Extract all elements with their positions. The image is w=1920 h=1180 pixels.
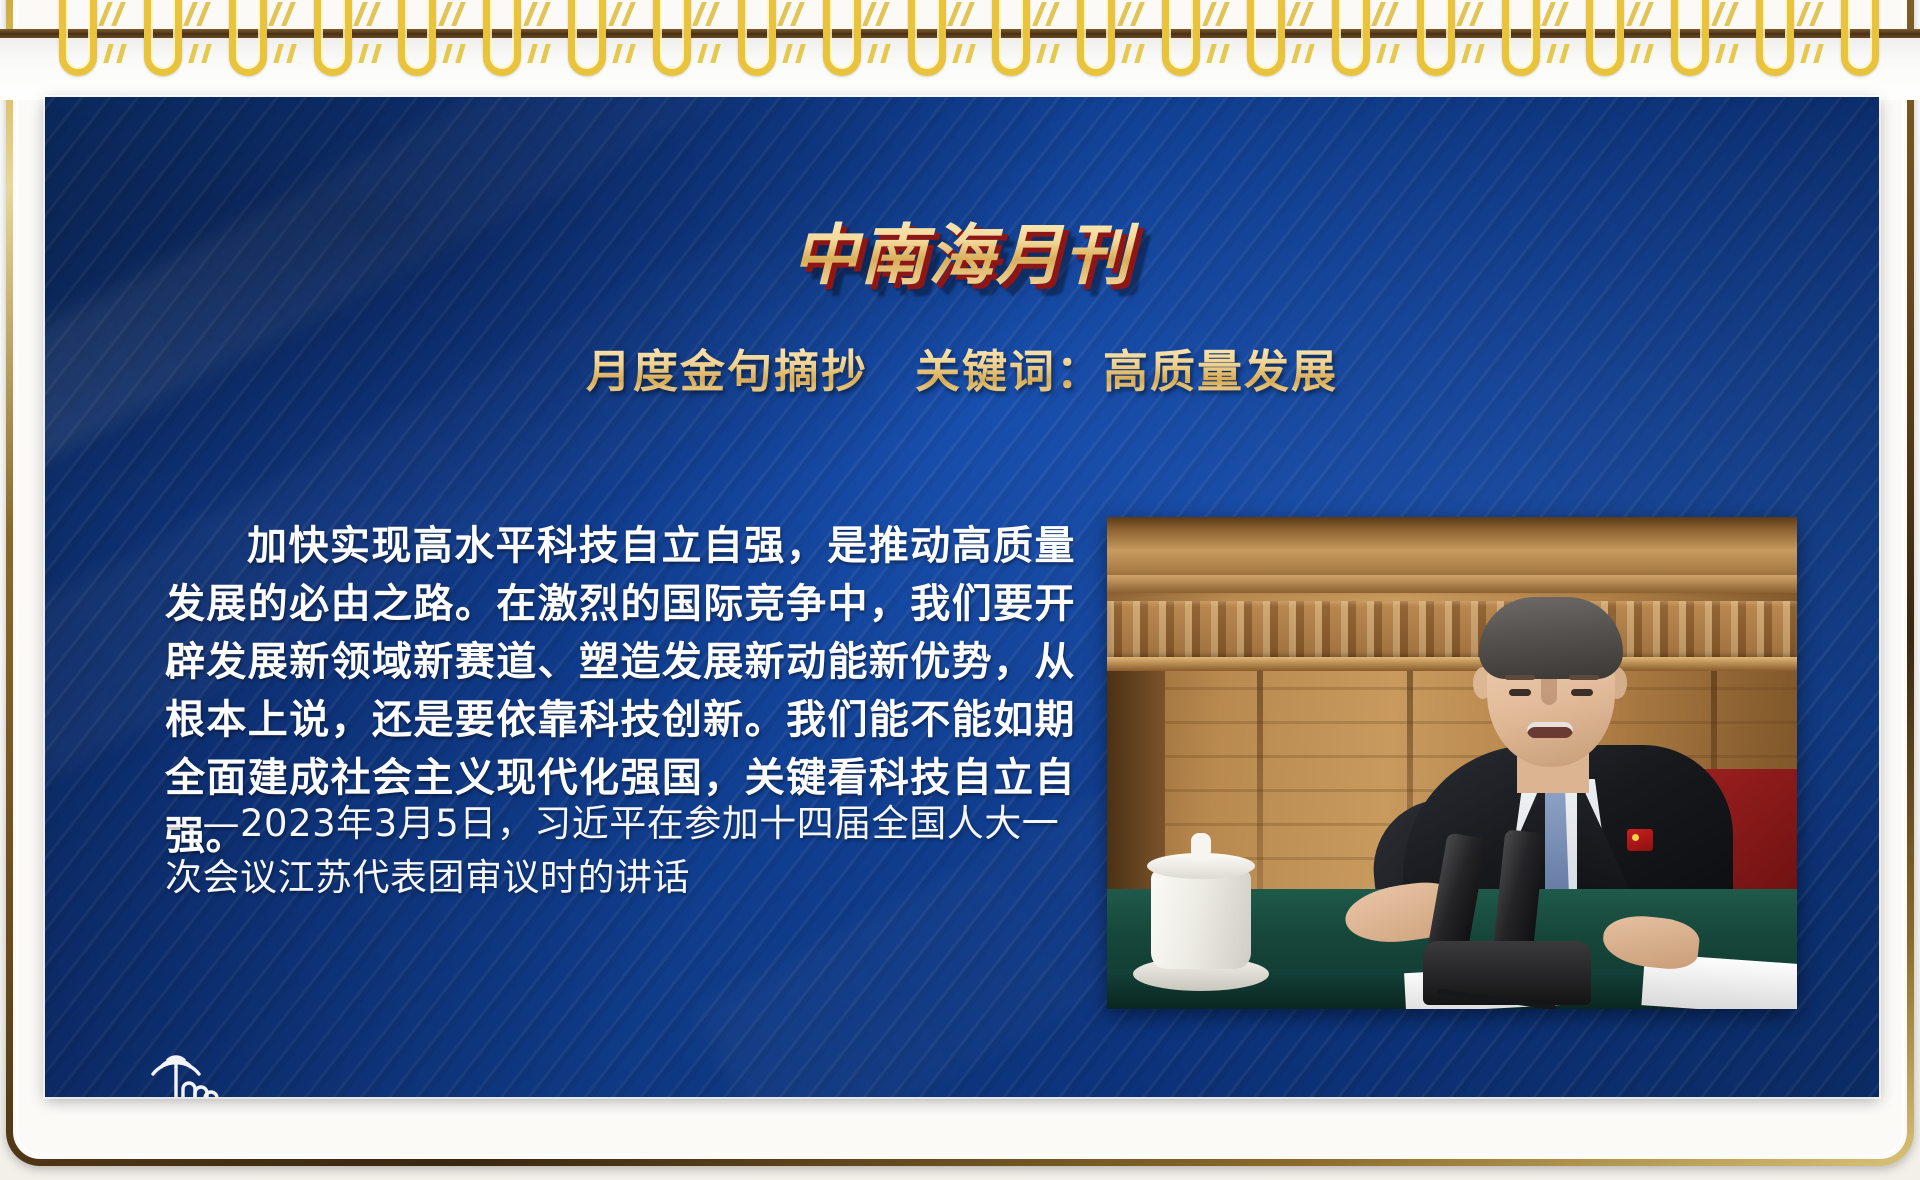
- binding-tick-upper: [1456, 2, 1471, 26]
- binding-tick-upper: [1626, 2, 1641, 26]
- binding-tick-upper: [183, 2, 198, 26]
- photo-microphone-base: [1423, 941, 1591, 1005]
- binding-tick-upper: [366, 2, 381, 26]
- spiral-binding-ring: [823, 0, 861, 76]
- photo-carved-frieze: [1107, 601, 1797, 659]
- meeting-photo: [1107, 517, 1797, 1009]
- spiral-binding-ring: [1841, 0, 1879, 76]
- binding-tick-upper: [281, 2, 296, 26]
- binding-tick-upper: [1541, 2, 1556, 26]
- binding-tick-upper: [1215, 2, 1230, 26]
- spiral-binding-ring: [908, 0, 946, 76]
- page-title: 中南海月刊: [45, 202, 1879, 298]
- spiral-binding-ring: [483, 0, 521, 76]
- photo-eye-left: [1509, 689, 1531, 696]
- binding-tick-upper: [112, 2, 127, 26]
- spiral-binding-ring: [1332, 0, 1370, 76]
- notebook-page: 中南海月刊 月度金句摘抄 关键词：高质量发展 加快实现高水平科技自立自强，是推动…: [0, 0, 1920, 1180]
- spiral-binding-ring: [398, 0, 436, 76]
- binding-tick-upper: [438, 2, 453, 26]
- quote-attribution: ——2023年3月5日，习近平在参加十四届全国人大一次会议江苏代表团审议时的讲话: [165, 797, 1065, 905]
- spiral-binding-ring: [738, 0, 776, 76]
- binding-tick-upper: [523, 2, 538, 26]
- binding-tick-upper: [790, 2, 805, 26]
- binding-tick-upper: [1045, 2, 1060, 26]
- binding-tick-upper: [1724, 2, 1739, 26]
- binding-tick-upper: [1639, 2, 1654, 26]
- binding-tick-upper: [353, 2, 368, 26]
- binding-tick-upper: [777, 2, 792, 26]
- binding-tick-upper: [1130, 2, 1145, 26]
- binding-tick-upper: [1300, 2, 1315, 26]
- photo-hair: [1479, 597, 1623, 679]
- photo-cup-knob: [1191, 833, 1211, 859]
- binding-tick-upper: [862, 2, 877, 26]
- spiral-binding-ring: [1586, 0, 1624, 76]
- binding-tick-upper: [960, 2, 975, 26]
- binding-tick-upper: [1032, 2, 1047, 26]
- binding-tick-upper: [1287, 2, 1302, 26]
- spiral-binding-ring: [568, 0, 606, 76]
- photo-nose: [1541, 679, 1557, 705]
- tap-hand-icon[interactable]: [133, 1027, 225, 1097]
- photo-wall-seam-1: [1257, 671, 1263, 889]
- spiral-binding-ring: [1077, 0, 1115, 76]
- spiral-binding-ring: [992, 0, 1030, 76]
- binding-tick-upper: [1469, 2, 1484, 26]
- binding-tick-upper: [451, 2, 466, 26]
- photo-brow-left: [1505, 675, 1535, 680]
- binding-tick-upper: [875, 2, 890, 26]
- spiral-binding-ring: [1502, 0, 1540, 76]
- photo-eye-right: [1571, 689, 1593, 696]
- binding-tick-upper: [99, 2, 114, 26]
- spiral-binding-ring: [229, 0, 267, 76]
- binding-tick-upper: [621, 2, 636, 26]
- spiral-binding: [0, 0, 1920, 100]
- blue-content-panel: 中南海月刊 月度金句摘抄 关键词：高质量发展 加快实现高水平科技自立自强，是推动…: [45, 97, 1879, 1097]
- binding-tick-upper: [196, 2, 211, 26]
- binding-tick-upper: [268, 2, 283, 26]
- binding-tick-upper: [706, 2, 721, 26]
- spiral-binding-ring: [59, 0, 97, 76]
- binding-tick-upper: [1384, 2, 1399, 26]
- binding-tick-upper: [1202, 2, 1217, 26]
- photo-mouth: [1527, 722, 1573, 738]
- binding-tick-upper: [693, 2, 708, 26]
- binding-tick-upper: [947, 2, 962, 26]
- binding-tick-upper: [1796, 2, 1811, 26]
- binding-tick-upper: [608, 2, 623, 26]
- spiral-binding-ring: [1247, 0, 1285, 76]
- photo-frieze-lip: [1107, 657, 1797, 671]
- page-subtitle: 月度金句摘抄 关键词：高质量发展: [45, 335, 1879, 400]
- photo-tea-cup: [1151, 869, 1251, 969]
- spiral-binding-ring: [1417, 0, 1455, 76]
- binding-spine-bar: [0, 29, 1920, 38]
- binding-tick-upper: [536, 2, 551, 26]
- spiral-binding-ring: [1756, 0, 1794, 76]
- binding-tick-upper: [1711, 2, 1726, 26]
- photo-cornice-lip: [1107, 575, 1797, 593]
- photo-brow-right: [1569, 675, 1599, 680]
- binding-tick-upper: [1554, 2, 1569, 26]
- binding-tick-upper: [1117, 2, 1132, 26]
- binding-tick-upper: [1809, 2, 1824, 26]
- spiral-binding-ring: [144, 0, 182, 76]
- spiral-binding-ring: [1162, 0, 1200, 76]
- binding-tick-upper: [1371, 2, 1386, 26]
- spiral-binding-ring: [1671, 0, 1709, 76]
- spiral-binding-ring: [314, 0, 352, 76]
- photo-delegate-badge: [1627, 829, 1653, 851]
- spiral-binding-ring: [653, 0, 691, 76]
